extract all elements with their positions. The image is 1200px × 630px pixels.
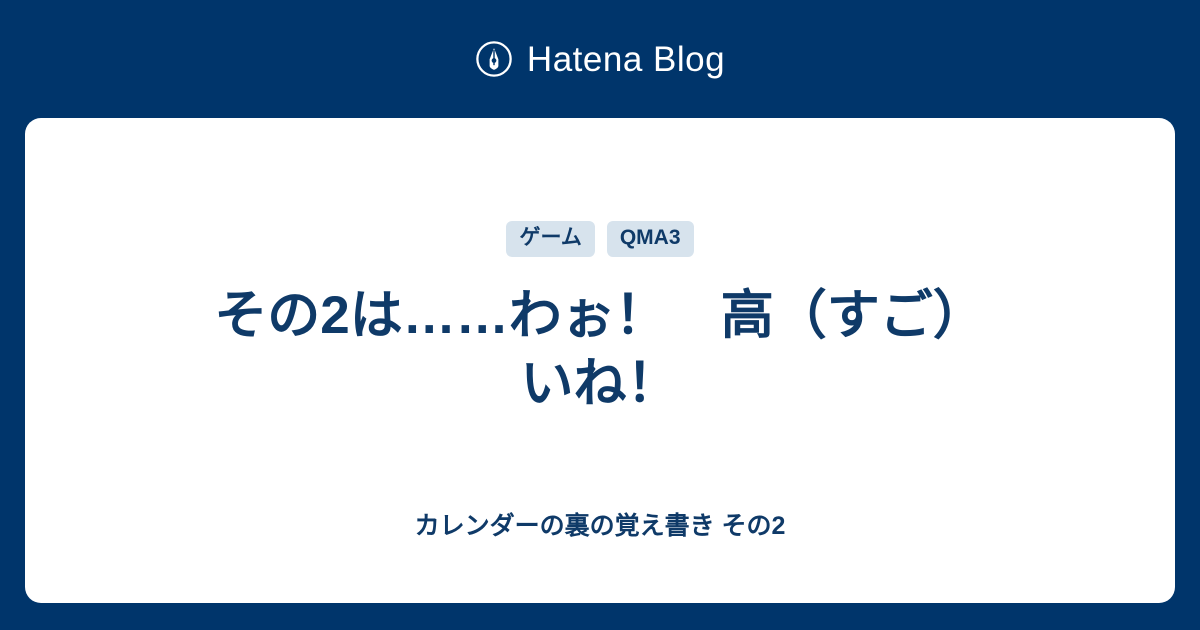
- entry-title: その2は……わぉ！ 高（すご）いね！: [190, 282, 1010, 418]
- hatena-blog-brand-header: Hatena Blog: [0, 0, 1200, 118]
- entry-card: ゲーム QMA3 その2は……わぉ！ 高（すご）いね！ カレンダーの裏の覚え書き…: [25, 118, 1175, 603]
- hatena-pen-nib-icon: [475, 40, 513, 78]
- brand-name-label: Hatena Blog: [527, 42, 725, 77]
- open-graph-card: Hatena Blog ゲーム QMA3 その2は……わぉ！ 高（すご）いね！ …: [0, 0, 1200, 630]
- entry-tag-list: ゲーム QMA3: [506, 220, 693, 258]
- entry-tag-qma3[interactable]: QMA3: [607, 221, 694, 257]
- entry-tag-game[interactable]: ゲーム: [506, 221, 594, 257]
- blog-name-label: カレンダーの裏の覚え書き その2: [25, 511, 1175, 541]
